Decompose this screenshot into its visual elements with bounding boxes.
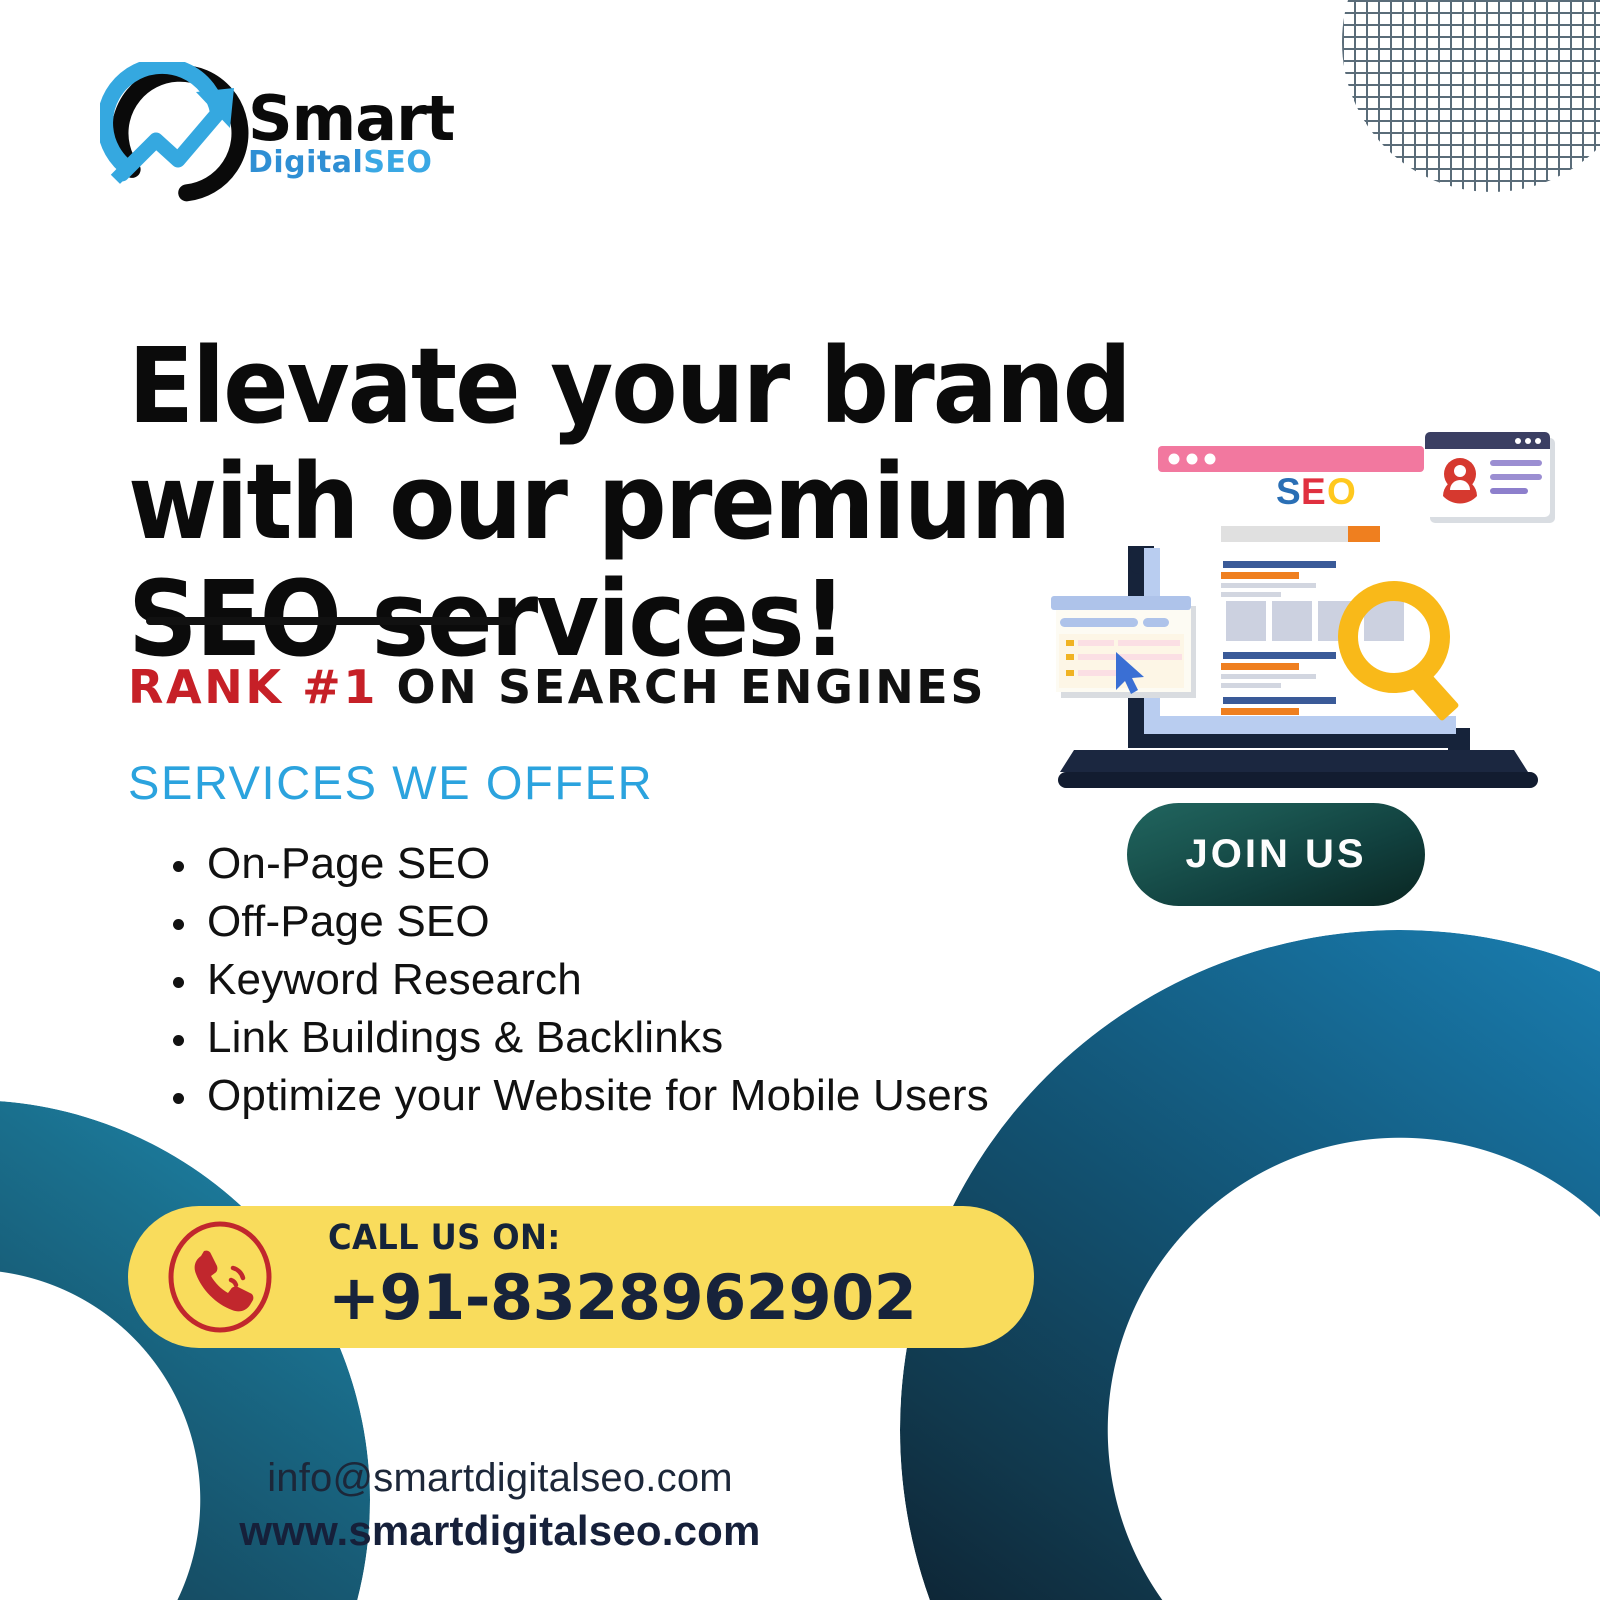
brand-logo[interactable]: Smart DigitalSEO bbox=[100, 62, 460, 212]
logo-name-seo: SEO bbox=[363, 145, 432, 180]
footer-contact: info@smartdigitalseo.com www.smartdigita… bbox=[0, 1455, 1000, 1556]
list-item: On-Page SEO bbox=[207, 835, 1207, 893]
poster-canvas: Smart DigitalSEO Elevate your brand with… bbox=[0, 0, 1600, 1600]
laptop-foot bbox=[1058, 772, 1538, 788]
email-link[interactable]: info@smartdigitalseo.com bbox=[0, 1455, 1000, 1502]
call-us-bar[interactable]: CALL US ON: +91-8328962902 bbox=[128, 1206, 1034, 1348]
laptop-base bbox=[1060, 750, 1528, 772]
phone-ringing-icon bbox=[163, 1220, 277, 1334]
list-item: Optimize your Website for Mobile Users bbox=[207, 1067, 1207, 1125]
phone-number[interactable]: +91-8328962902 bbox=[328, 1265, 916, 1332]
pink-browser-bar bbox=[1158, 446, 1424, 472]
join-us-label: JOIN US bbox=[1185, 832, 1366, 877]
seo-letter-s: S bbox=[1276, 471, 1301, 512]
call-us-text: CALL US ON: +91-8328962902 bbox=[328, 1220, 916, 1332]
avatar-card-header bbox=[1425, 432, 1550, 449]
cursor-card-header bbox=[1051, 596, 1191, 610]
join-us-button[interactable]: JOIN US bbox=[1127, 803, 1425, 906]
call-us-label: CALL US ON: bbox=[328, 1220, 869, 1257]
seo-laptop-illustration: S E O bbox=[1018, 398, 1563, 798]
rank-tagline-highlight: RANK #1 bbox=[128, 660, 378, 714]
rank-tagline-rest: ON SEARCH ENGINES bbox=[378, 660, 986, 714]
rank-tagline: RANK #1 ON SEARCH ENGINES bbox=[128, 660, 986, 714]
list-item: Keyword Research bbox=[207, 951, 1207, 1009]
list-item: Off-Page SEO bbox=[207, 893, 1207, 951]
dotted-circle-decoration bbox=[1342, 0, 1600, 192]
search-bar-button bbox=[1348, 526, 1380, 542]
services-heading: SERVICES WE OFFER bbox=[128, 755, 653, 810]
seo-letter-e: E bbox=[1301, 471, 1326, 512]
search-bar-track bbox=[1221, 526, 1351, 542]
logo-wordmark: Smart DigitalSEO bbox=[248, 90, 454, 178]
services-list: On-Page SEO Off-Page SEO Keyword Researc… bbox=[155, 835, 1207, 1125]
logo-name-digital: Digital bbox=[248, 145, 363, 180]
growth-arrow-circle-icon bbox=[100, 62, 265, 212]
title-divider bbox=[146, 617, 514, 625]
logo-name-sub: DigitalSEO bbox=[248, 148, 454, 178]
seo-letter-o: O bbox=[1327, 471, 1356, 512]
dot-grid-pattern bbox=[1342, 0, 1600, 192]
list-item: Link Buildings & Backlinks bbox=[207, 1009, 1207, 1067]
website-link[interactable]: www.smartdigitalseo.com bbox=[0, 1506, 1000, 1556]
logo-name-main: Smart bbox=[248, 90, 454, 147]
